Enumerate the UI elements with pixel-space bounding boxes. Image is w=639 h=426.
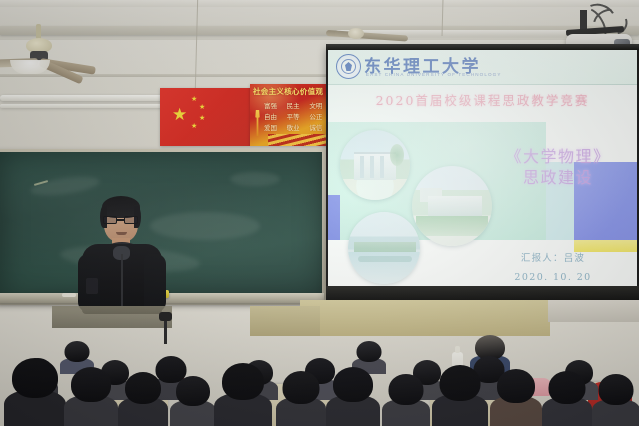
audience-member [170,384,216,426]
gate-pillar [370,156,374,178]
poster-title: 社会主义核心价值观 [253,86,330,97]
audience-member [592,382,639,426]
slide-main-title-line2: 思政建设 [480,167,636,188]
gate-pillar [380,156,384,178]
university-name-en: EAST CHINA UNIVERSITY OF TECHNOLOGY [366,72,502,77]
chalk-smudge [29,173,101,199]
campus-gate-photo [340,130,410,200]
flag-star-small: ★ [199,104,205,111]
header-divider [328,84,637,85]
poster-books-decoration [268,134,328,146]
glasses-lens [124,216,138,224]
poster-value: 敬业 [287,122,308,132]
core-values-poster: 社会主义核心价值观 富强 民主 文明 自由 平等 公正 爱国 敬业 诚信 [250,84,332,146]
campus-lake-photo [348,212,420,284]
building-main [428,196,482,218]
flag-star-small: ★ [191,96,197,103]
audience-head [176,376,210,406]
tree [390,144,404,166]
audience-head [333,367,373,402]
glasses-bridge [117,219,124,221]
flag-star-small: ★ [191,123,197,130]
poster-value: 民主 [287,100,308,110]
audience-member [276,380,326,426]
chinese-national-flag: ★ ★ ★ ★ ★ [160,88,250,146]
poster-value: 自由 [264,111,285,121]
ceiling-beam-upper [0,0,639,7]
university-seal-icon [336,54,361,79]
lawn [416,216,488,236]
presenter-person [72,196,172,314]
fan-lamp [10,60,50,74]
fan-hub [348,28,364,39]
slide-main-title: 《大学物理》 思政建设 [480,146,636,188]
audience-head [71,367,111,402]
seal-core [345,62,352,71]
audience-head [65,341,90,362]
flag-star-large: ★ [172,106,187,123]
audience-head [222,363,264,400]
audience-member [382,382,430,426]
audience-member [432,374,488,426]
audience-head [599,374,634,405]
audience-member [542,380,592,426]
glasses-icon [103,216,139,224]
audience-member [118,380,168,426]
flag-star-small: ★ [199,115,205,122]
audience-member [490,378,542,426]
chalk-smudge [230,172,280,186]
audience-member [214,372,272,426]
audience-head [283,371,320,404]
poster-value: 富强 [264,100,285,110]
gate-pillar [360,156,364,178]
presentation-slide: 东华理工大学 EAST CHINA UNIVERSITY OF TECHNOLO… [328,50,637,288]
competition-title: 2020首届校级课程思政教学竞赛 [328,90,637,109]
wall-seam [0,74,340,77]
audience-member [4,368,66,426]
slide-block-accent [328,195,340,240]
audience-head [389,374,424,405]
audience [0,298,639,426]
slide-main-title-line1: 《大学物理》 [480,146,636,167]
jacket-pocket [86,278,98,294]
ceiling-fan [0,24,120,72]
audience-head [497,369,535,403]
glasses-lens [103,216,117,224]
audience-member [64,376,118,426]
poster-value: 爱国 [264,122,285,132]
audience-head [440,365,481,401]
slide-date: 2020. 10. 20 [478,272,628,283]
slide-header: 东华理工大学 EAST CHINA UNIVERSITY OF TECHNOLO… [328,50,637,84]
slide-presenter-label: 汇报人：吕波 [478,250,628,264]
audience-head [125,372,161,404]
presenter-mouth [116,232,127,235]
audience-head [12,358,58,398]
poster-value: 平等 [287,111,308,121]
water-reflection [358,256,412,262]
classroom-photo-scene: ★ ★ ★ ★ ★ 社会主义核心价值观 富强 民主 文明 自由 平等 公正 爱国… [0,0,639,426]
poster-values-grid: 富强 民主 文明 自由 平等 公正 爱国 敬业 诚信 [264,100,330,132]
audience-head [357,341,382,362]
audience-member [326,376,380,426]
audience-head [549,371,586,404]
